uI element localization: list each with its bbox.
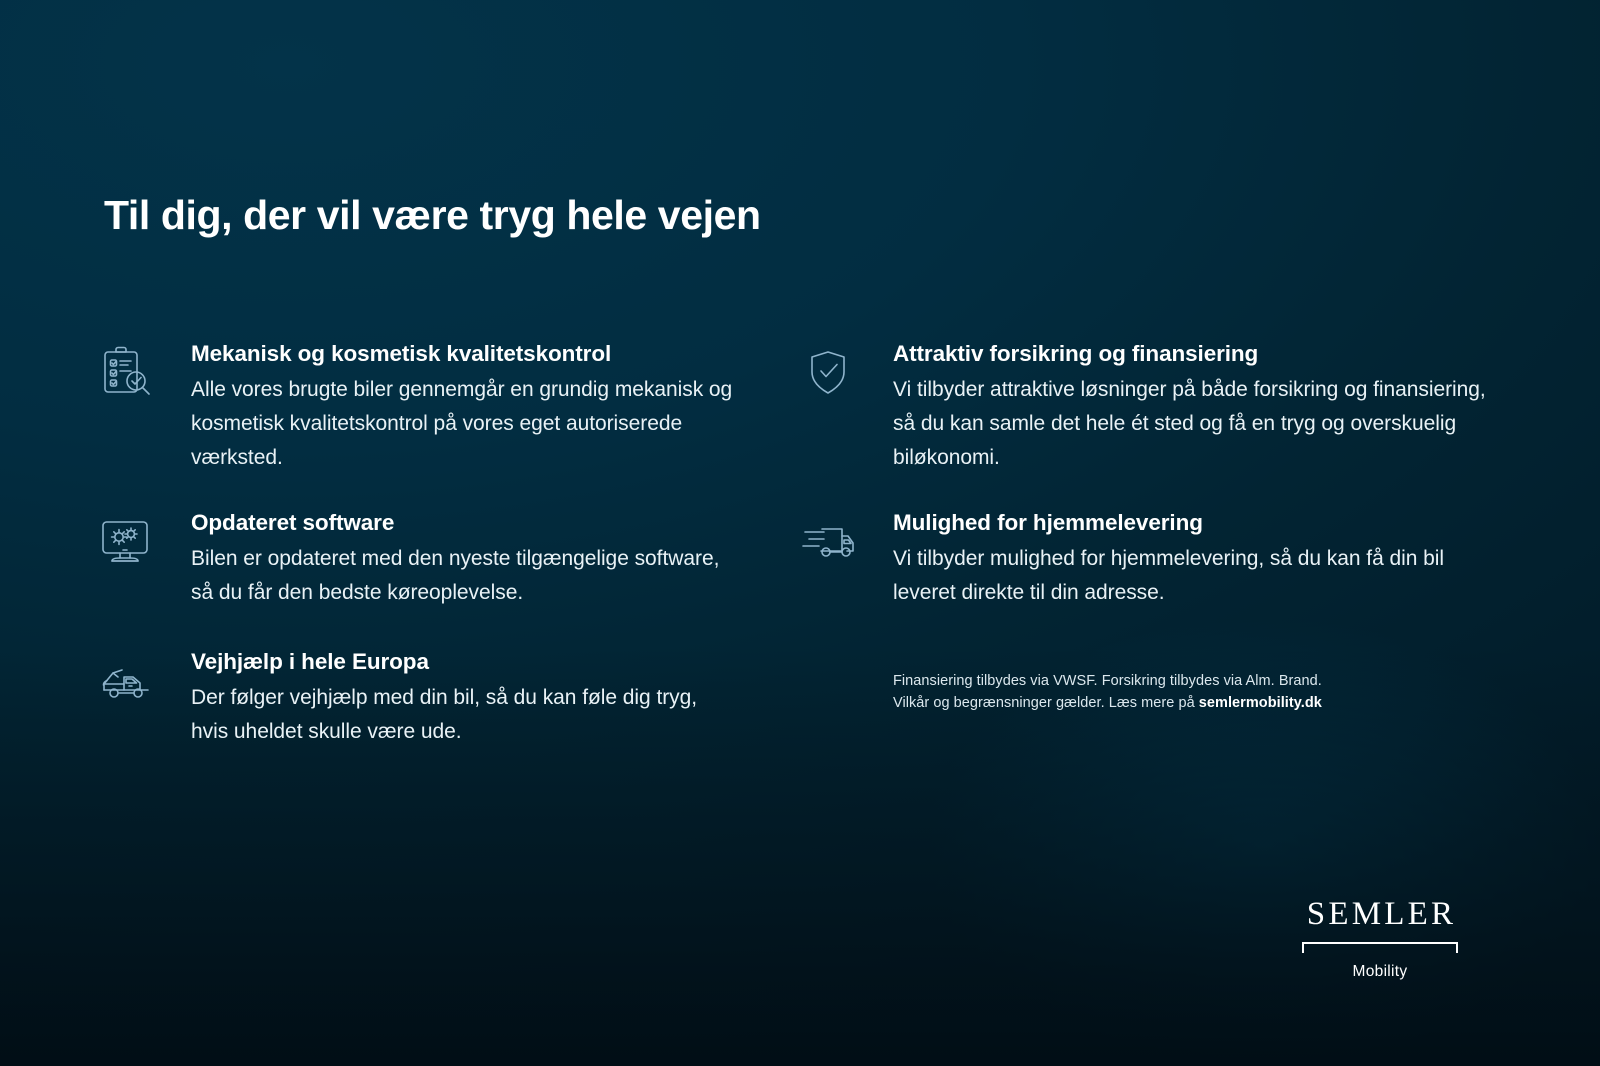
feature-description: Der følger vejhjælp med din bil, så du k… — [191, 681, 736, 749]
clipboard-check-magnifier-icon — [98, 346, 156, 400]
feature-roadside-assistance: Vejhjælp i hele Europa Der følger vejhjæ… — [98, 648, 738, 749]
logo-divider-bar — [1302, 942, 1458, 944]
feature-quality-control: Mekanisk og kosmetisk kvalitetskontrol A… — [98, 340, 738, 475]
logo-wordmark: SEMLER — [1300, 898, 1460, 931]
left-feature-column: Mekanisk og kosmetisk kvalitetskontrol A… — [98, 340, 738, 749]
semler-mobility-logo: SEMLER Mobility — [1300, 898, 1460, 981]
monitor-gears-icon — [98, 515, 156, 569]
fineprint-line-1: Finansiering tilbydes via VWSF. Forsikri… — [893, 670, 1413, 692]
feature-title: Opdateret software — [191, 509, 738, 537]
semlermobility-link[interactable]: semlermobility.dk — [1199, 695, 1322, 711]
feature-title: Mulighed for hjemmelevering — [893, 509, 1500, 537]
tow-truck-icon — [98, 654, 156, 708]
feature-updated-software: Opdateret software Bilen er opdateret me… — [98, 509, 738, 610]
feature-description: Alle vores brugte biler gennemgår en gru… — [191, 373, 736, 475]
feature-description: Vi tilbyder attraktive løsninger på både… — [893, 373, 1493, 475]
feature-title: Mekanisk og kosmetisk kvalitetskontrol — [191, 340, 738, 368]
feature-title: Attraktiv forsikring og finansiering — [893, 340, 1500, 368]
fineprint-line-2-text: Vilkår og begrænsninger gælder. Læs mere… — [893, 695, 1199, 711]
delivery-truck-icon — [800, 515, 858, 569]
shield-check-icon — [800, 346, 858, 400]
logo-divider-tick-left — [1302, 942, 1304, 953]
feature-description: Bilen er opdateret med den nyeste tilgæn… — [191, 542, 736, 610]
feature-insurance-financing: Attraktiv forsikring og finansiering Vi … — [800, 340, 1500, 475]
feature-title: Vejhjælp i hele Europa — [191, 648, 738, 676]
feature-description: Vi tilbyder mulighed for hjemmelevering,… — [893, 542, 1493, 610]
fineprint-line-2: Vilkår og begrænsninger gælder. Læs mere… — [893, 692, 1413, 714]
logo-divider — [1300, 942, 1460, 954]
promo-panel: Til dig, der vil være tryg hele vejen — [0, 0, 1600, 1066]
feature-home-delivery: Mulighed for hjemmelevering Vi tilbyder … — [800, 509, 1500, 610]
legal-fineprint: Finansiering tilbydes via VWSF. Forsikri… — [893, 670, 1413, 715]
right-feature-column: Attraktiv forsikring og finansiering Vi … — [800, 340, 1500, 648]
page-title: Til dig, der vil være tryg hele vejen — [104, 192, 761, 239]
logo-subtitle: Mobility — [1300, 963, 1460, 981]
logo-divider-tick-right — [1456, 942, 1458, 953]
